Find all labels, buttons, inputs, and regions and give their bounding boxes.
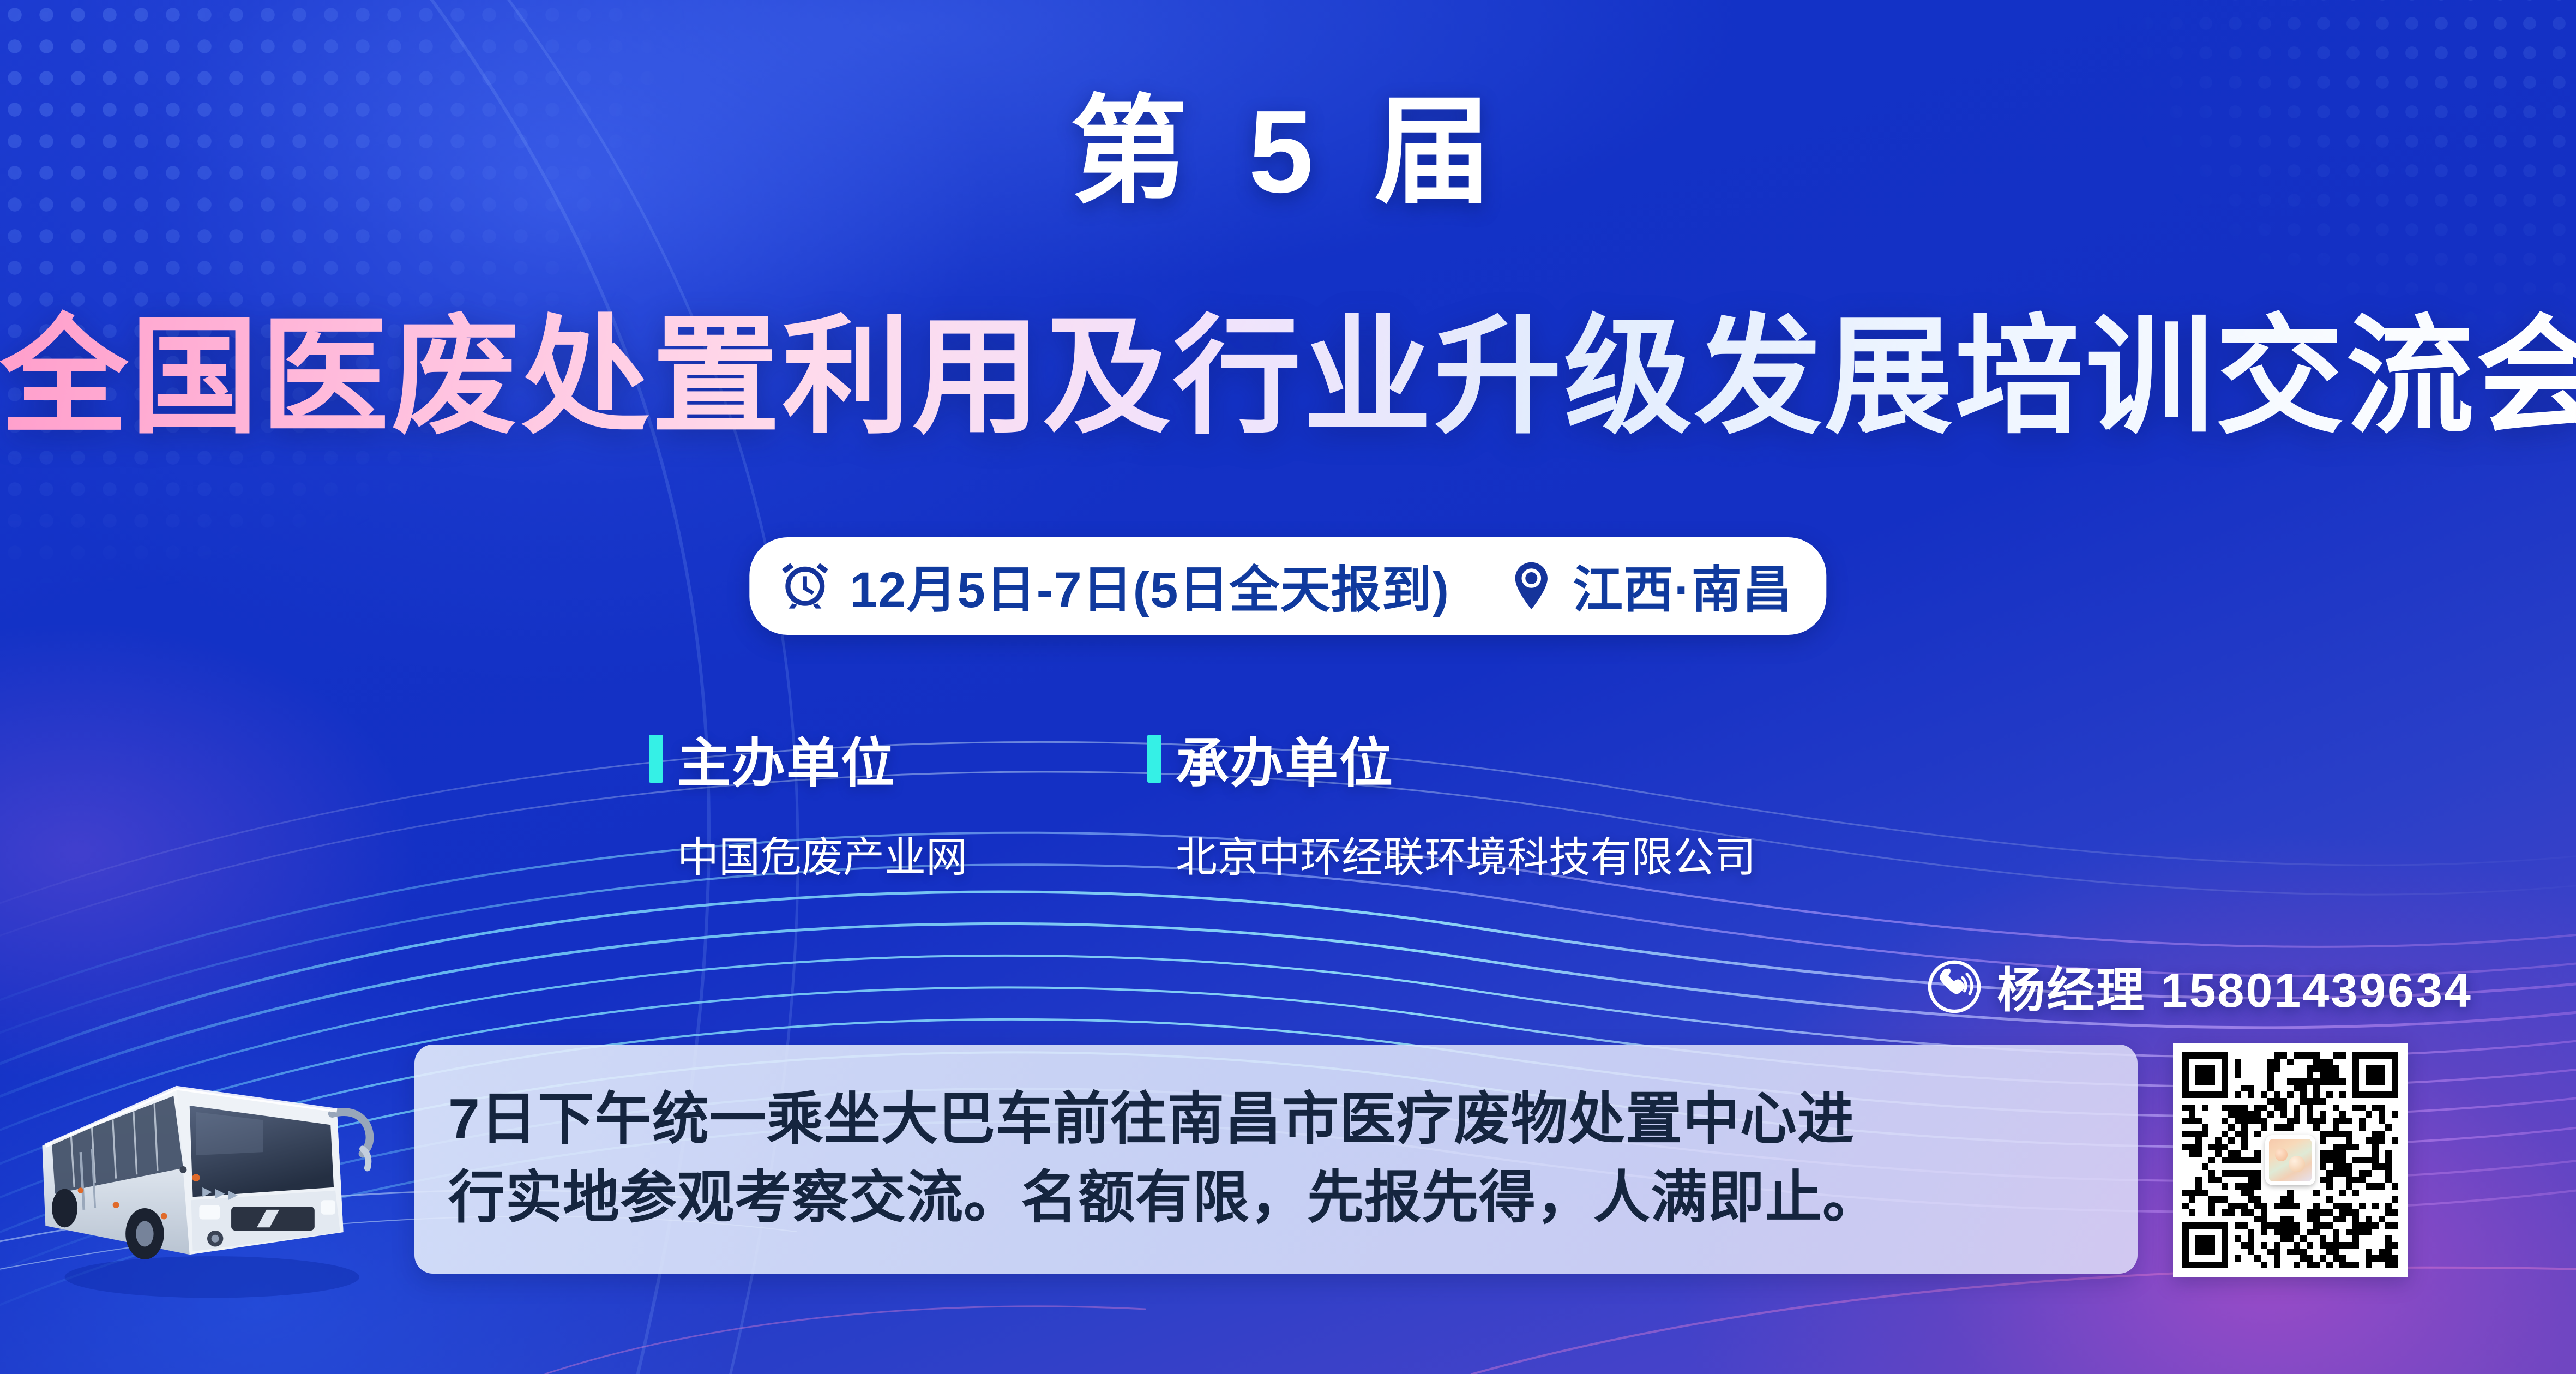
organizer-coorganizer-header: 承办单位 [1147, 720, 1756, 797]
organizer-host: 主办单位 中国危废产业网 [649, 720, 967, 884]
contact-text: 杨经理 15801439634 [1997, 952, 2472, 1021]
note-panel: 7日下午统一乘坐大巴车前往南昌市医疗废物处置中心进 行实地参观考察交流。名额有限… [414, 1045, 2138, 1274]
organizer-host-name: 中国危废产业网 [677, 824, 967, 884]
note-line-1: 7日下午统一乘坐大巴车前往南昌市医疗废物处置中心进 [448, 1081, 2104, 1159]
qr-code[interactable] [2173, 1043, 2408, 1277]
organizer-host-header: 主办单位 [649, 720, 967, 797]
cyan-bar-icon [649, 735, 663, 783]
main-headline: 全国医废处置利用及行业升级发展培训交流会 [0, 308, 2576, 445]
organizer-section: 主办单位 中国危废产业网 承办单位 北京中环经联环境科技有限公司 [649, 720, 1756, 884]
date-location-pill: 12月5日-7日(5日全天报到) 江西·南昌 [749, 537, 1826, 635]
phone-circle-icon [1926, 958, 1983, 1015]
alarm-clock-icon [779, 560, 831, 612]
cyan-bar-icon [1147, 735, 1161, 783]
organizer-coorganizer-label: 承办单位 [1176, 720, 1394, 797]
event-date: 12月5日-7日(5日全天报到) [850, 549, 1449, 622]
promo-banner: 第 5 届 全国医废处置利用及行业升级发展培训交流会 12月5日-7日(5日全天… [0, 0, 2576, 1374]
organizer-coorganizer-name: 北京中环经联环境科技有限公司 [1176, 824, 1756, 884]
coach-bus-illustration [19, 1053, 395, 1309]
flower-bouquet-avatar [2265, 1135, 2315, 1185]
map-pin-icon [1508, 560, 1554, 612]
contact-info[interactable]: 杨经理 15801439634 [1926, 952, 2472, 1021]
event-location: 江西·南昌 [1573, 549, 1793, 622]
edition-title: 第 5 届 [0, 93, 2576, 210]
organizer-coorganizer: 承办单位 北京中环经联环境科技有限公司 [1147, 720, 1756, 884]
organizer-host-label: 主办单位 [677, 720, 895, 797]
note-line-2: 行实地参观考察交流。名额有限，先报先得，人满即止。 [448, 1159, 2104, 1238]
